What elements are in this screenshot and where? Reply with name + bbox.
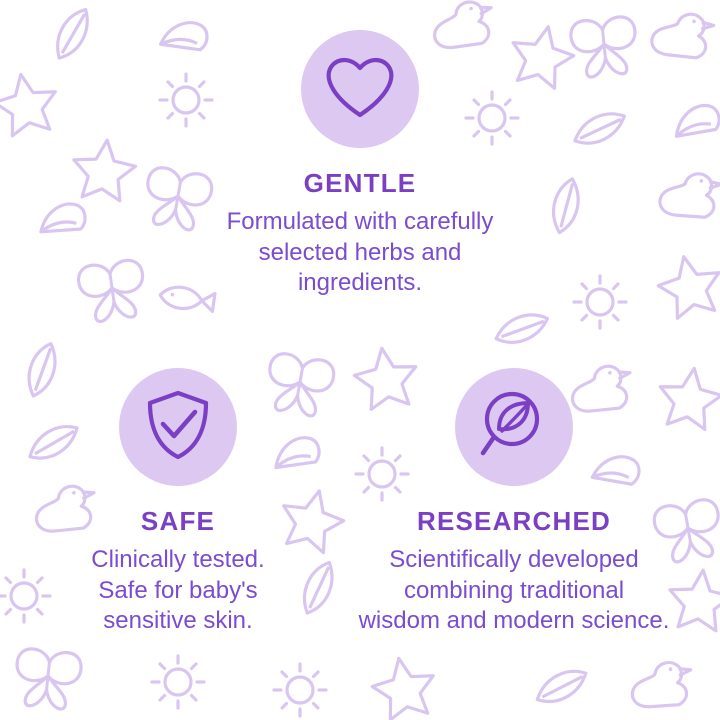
- feature-gentle: GENTLE Formulated with carefully selecte…: [180, 30, 540, 299]
- gentle-description-line: selected herbs and: [180, 238, 540, 269]
- gentle-description-line: Formulated with carefully: [180, 207, 540, 238]
- safe-description-line: sensitive skin.: [28, 606, 328, 637]
- feature-researched: RESEARCHED Scientifically developed comb…: [330, 368, 698, 637]
- safe-title: SAFE: [28, 506, 328, 537]
- researched-description-line: wisdom and modern science.: [330, 606, 698, 637]
- researched-icon-circle: [455, 368, 573, 486]
- safe-icon-circle: [119, 368, 237, 486]
- shield-check-icon: [144, 388, 212, 467]
- safe-description: Clinically tested. Safe for baby's sensi…: [28, 545, 328, 637]
- leaf-magnifier-icon: [476, 387, 552, 468]
- researched-description-line: Scientifically developed: [330, 545, 698, 576]
- researched-description: Scientifically developed combining tradi…: [330, 545, 698, 637]
- safe-description-line: Clinically tested.: [28, 545, 328, 576]
- product-benefits-panel: GENTLE Formulated with carefully selecte…: [0, 0, 720, 720]
- researched-description-line: combining traditional: [330, 576, 698, 607]
- gentle-description-line: ingredients.: [180, 268, 540, 299]
- researched-title: RESEARCHED: [330, 506, 698, 537]
- safe-description-line: Safe for baby's: [28, 576, 328, 607]
- feature-safe: SAFE Clinically tested. Safe for baby's …: [28, 368, 328, 637]
- gentle-description: Formulated with carefully selected herbs…: [180, 207, 540, 299]
- gentle-icon-circle: [301, 30, 419, 148]
- heart-icon: [323, 53, 397, 126]
- gentle-title: GENTLE: [180, 168, 540, 199]
